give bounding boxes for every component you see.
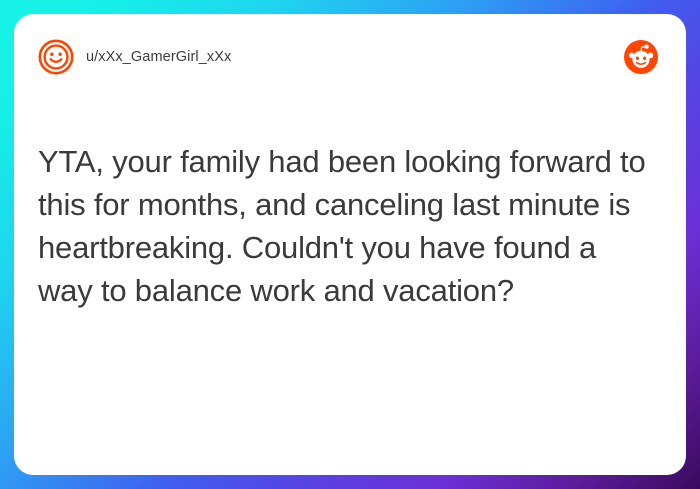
user-info-block[interactable]: u/xXx_GamerGirl_xXx [38,39,231,75]
post-text: YTA, your family had been looking forwar… [38,140,658,312]
post-body: YTA, your family had been looking forwar… [38,78,658,455]
post-header: u/xXx_GamerGirl_xXx [38,36,658,78]
reddit-snoo-logo-icon[interactable] [624,40,658,74]
gradient-background: u/xXx_GamerGirl_xXx YTA, your family had… [0,0,700,489]
card-content: u/xXx_GamerGirl_xXx YTA, your family had… [14,14,686,475]
username-label: u/xXx_GamerGirl_xXx [86,49,231,65]
smiley-face-avatar-icon [38,39,74,75]
reddit-post-card: u/xXx_GamerGirl_xXx YTA, your family had… [14,14,686,475]
